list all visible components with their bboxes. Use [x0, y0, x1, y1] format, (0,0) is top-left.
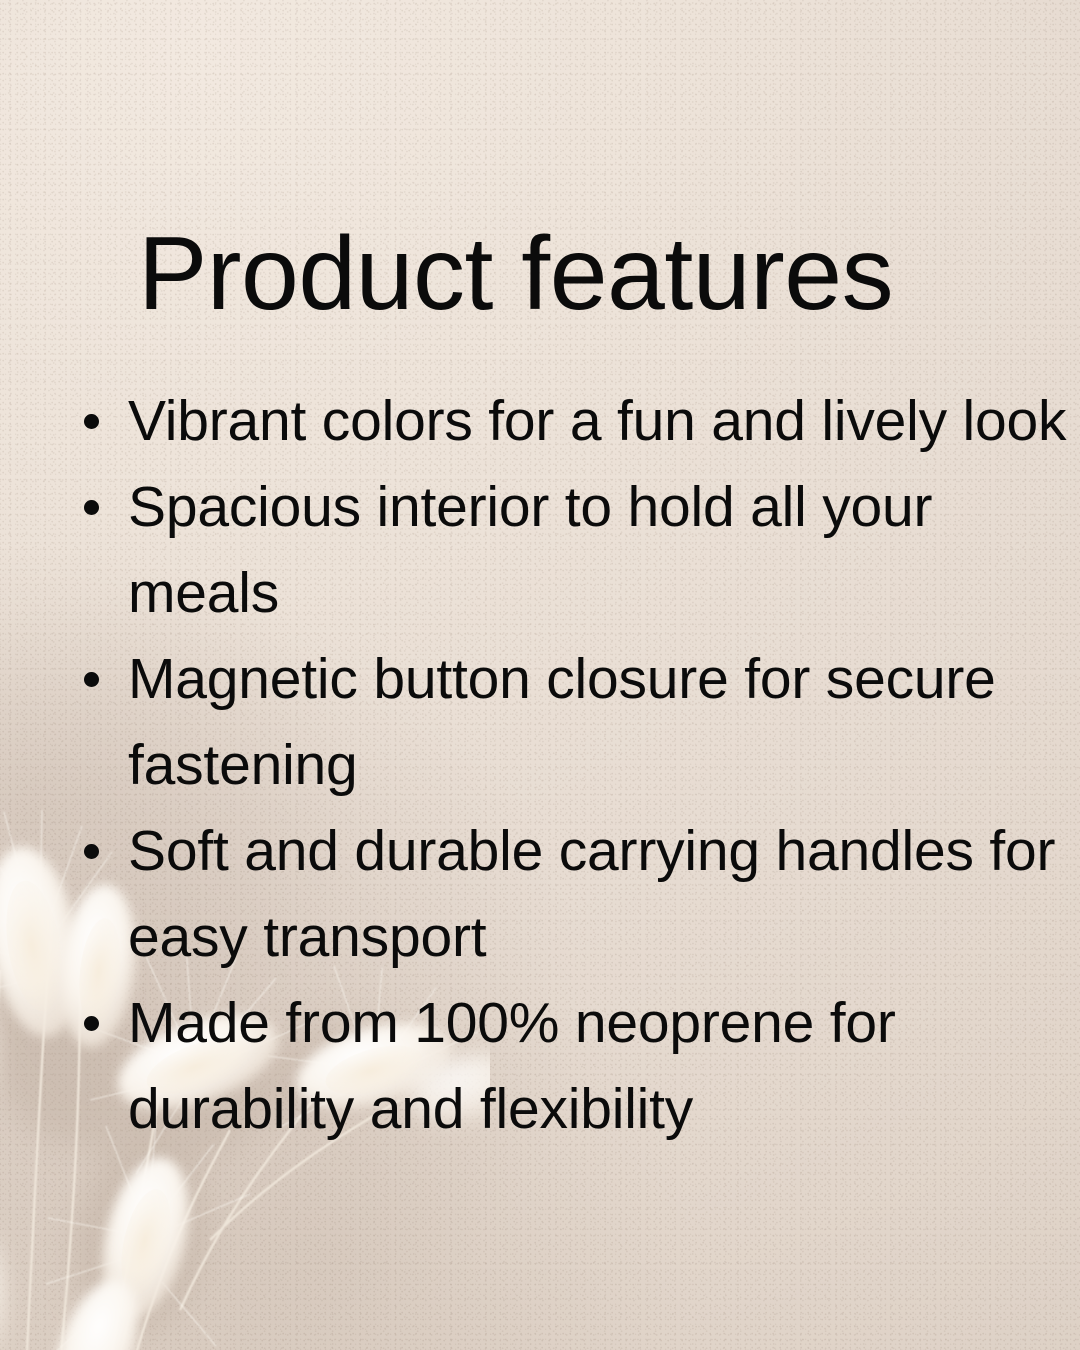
feature-list-item: Soft and durable carrying handles for ea… [78, 808, 1068, 980]
bullet-point-icon [84, 500, 99, 515]
feature-text: Soft and durable carrying handles for ea… [128, 819, 1055, 969]
feature-list-item: Spacious interior to hold all your meals [78, 464, 1068, 636]
feature-text: Magnetic button closure for secure faste… [128, 647, 996, 797]
product-features-list: Vibrant colors for a fun and lively look… [78, 378, 1068, 1152]
bullet-point-icon [84, 1016, 99, 1031]
bullet-point-icon [84, 672, 99, 687]
feature-list-item: Made from 100% neoprene for durability a… [78, 980, 1068, 1152]
feature-text: Vibrant colors for a fun and lively look [128, 389, 1066, 453]
feature-list-item: Vibrant colors for a fun and lively look [78, 378, 1068, 464]
page-title: Product features [138, 216, 893, 332]
feature-list-item: Magnetic button closure for secure faste… [78, 636, 1068, 808]
bullet-point-icon [84, 414, 99, 429]
bullet-point-icon [84, 844, 99, 859]
poster-canvas: Product features Vibrant colors for a fu… [0, 0, 1080, 1350]
feature-text: Spacious interior to hold all your meals [128, 475, 932, 625]
feature-text: Made from 100% neoprene for durability a… [128, 991, 896, 1141]
